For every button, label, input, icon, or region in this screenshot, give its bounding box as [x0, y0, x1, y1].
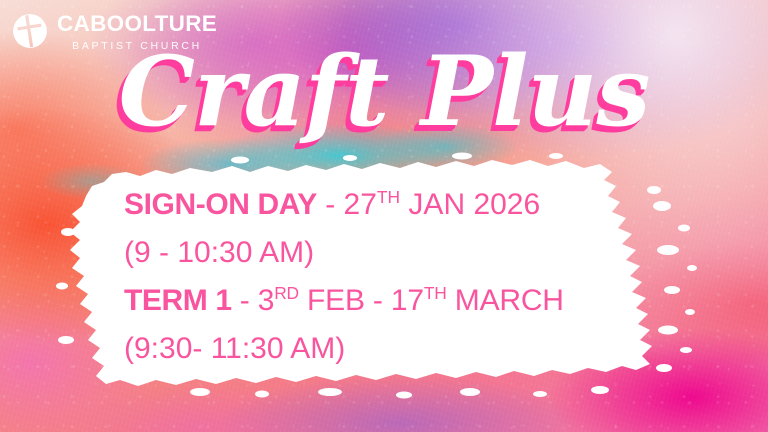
term-label: TERM 1 [124, 284, 232, 317]
logo-name: CABOOLTURE [57, 13, 217, 36]
event-details: SIGN-ON DAY - 27TH JAN 2026 (9 - 10:30 A… [124, 190, 564, 364]
signon-separator: - [317, 188, 344, 221]
promo-poster: CABOOLTURE BAPTIST CHURCH Craft Plus SIG… [0, 0, 768, 432]
detail-line-signon-time: (9 - 10:30 AM) [124, 238, 564, 268]
logo-wordmark: CABOOLTURE BAPTIST CHURCH [57, 12, 217, 51]
detail-line-signon: SIGN-ON DAY - 27TH JAN 2026 [124, 190, 564, 220]
term-start-ordinal: RD [274, 283, 299, 303]
signon-day-number: 27 [344, 188, 377, 221]
logo-subtitle: BAPTIST CHURCH [72, 41, 202, 52]
term-end-number: 17 [391, 284, 424, 317]
detail-line-term: TERM 1 - 3RD FEB - 17TH MARCH [124, 286, 564, 316]
signon-label: SIGN-ON DAY [124, 188, 317, 221]
term-end-ordinal: TH [424, 283, 447, 303]
term-end-month: MARCH [447, 284, 564, 317]
circle-cross-icon [12, 13, 48, 49]
church-logo: CABOOLTURE BAPTIST CHURCH [12, 12, 217, 51]
page-title: Craft Plus [0, 44, 768, 140]
term-separator: - [232, 284, 258, 317]
detail-line-term-time: (9:30- 11:30 AM) [124, 334, 564, 364]
signon-month-year: JAN 2026 [400, 188, 540, 221]
term-start-number: 3 [258, 284, 275, 317]
signon-day-ordinal: TH [377, 187, 400, 207]
term-middle: FEB - [299, 284, 391, 317]
